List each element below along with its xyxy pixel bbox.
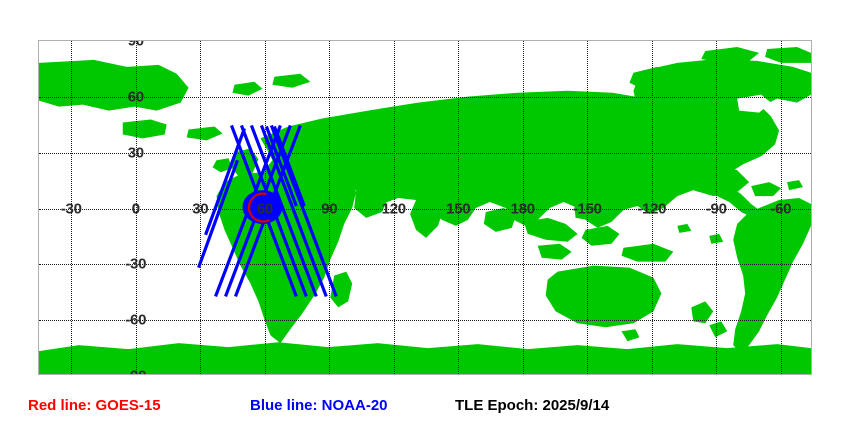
latitude-label: -30 [125, 257, 146, 272]
longitude-label: 60 [257, 201, 273, 216]
longitude-label: 120 [382, 201, 406, 216]
latitude-label: 60 [128, 89, 144, 104]
latitude-label: 90 [128, 40, 144, 49]
longitude-label: -150 [573, 201, 602, 216]
longitude-label: -120 [637, 201, 666, 216]
longitude-label: 180 [511, 201, 535, 216]
longitude-label: 30 [192, 201, 208, 216]
longitude-label: -30 [61, 201, 82, 216]
legend-blue-line: Blue line: NOAA-20 [250, 398, 388, 413]
satellite-overlay [39, 41, 811, 374]
longitude-label: 90 [321, 201, 337, 216]
map-plot-area: -300306090120150180-150-120-90-609060300… [38, 40, 812, 375]
legend-tle-epoch: TLE Epoch: 2025/9/14 [455, 398, 609, 413]
longitude-label: 150 [446, 201, 470, 216]
longitude-label: -90 [706, 201, 727, 216]
satellite-track-map: -300306090120150180-150-120-90-609060300… [0, 0, 850, 425]
latitude-label: 30 [128, 145, 144, 160]
latitude-label: -90 [125, 369, 146, 376]
legend-footer: Red line: GOES-15 Blue line: NOAA-20 TLE… [0, 393, 850, 421]
latitude-label: 0 [132, 201, 140, 216]
legend-red-line: Red line: GOES-15 [28, 398, 161, 413]
longitude-label: -60 [770, 201, 791, 216]
latitude-label: -60 [125, 313, 146, 328]
